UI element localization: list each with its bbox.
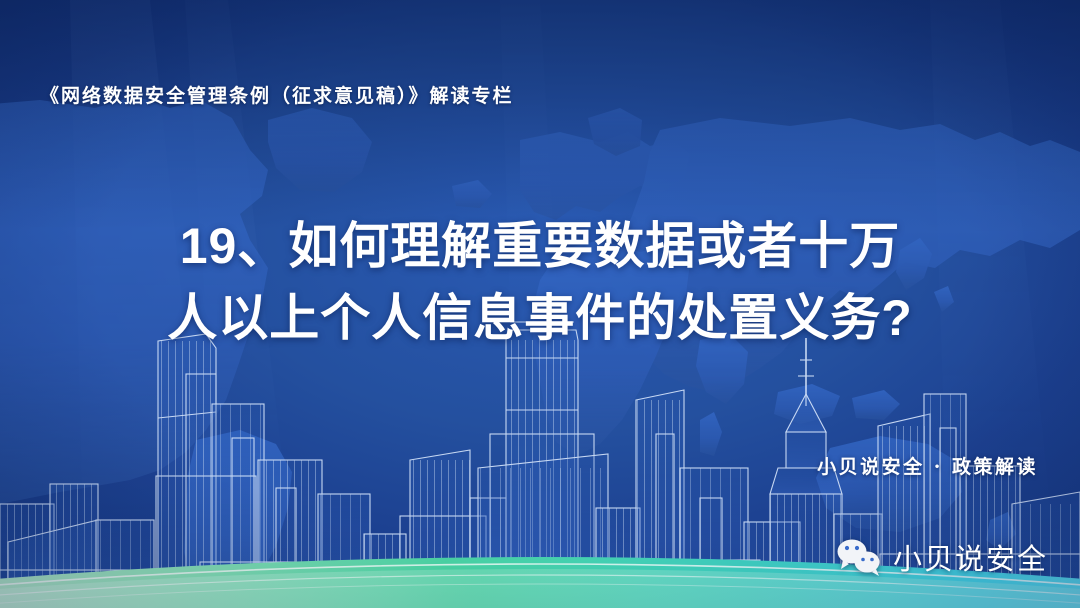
title-line-2: 人以上个人信息事件的处置义务? xyxy=(0,282,1080,354)
tagline-label: 小贝说安全 · 政策解读 xyxy=(817,452,1038,479)
title-line-1: 19、如何理解重要数据或者十万 xyxy=(0,210,1080,282)
slide-canvas: 《网络数据安全管理条例（征求意见稿）》解读专栏 19、如何理解重要数据或者十万 … xyxy=(0,0,1080,608)
wechat-account-name: 小贝说安全 xyxy=(893,536,1048,578)
wechat-account-badge[interactable]: 小贝说安全 xyxy=(836,536,1048,578)
page-title: 19、如何理解重要数据或者十万 人以上个人信息事件的处置义务? xyxy=(0,210,1080,354)
wechat-icon xyxy=(836,537,882,577)
column-header-label: 《网络数据安全管理条例（征求意见稿）》解读专栏 xyxy=(40,81,514,108)
